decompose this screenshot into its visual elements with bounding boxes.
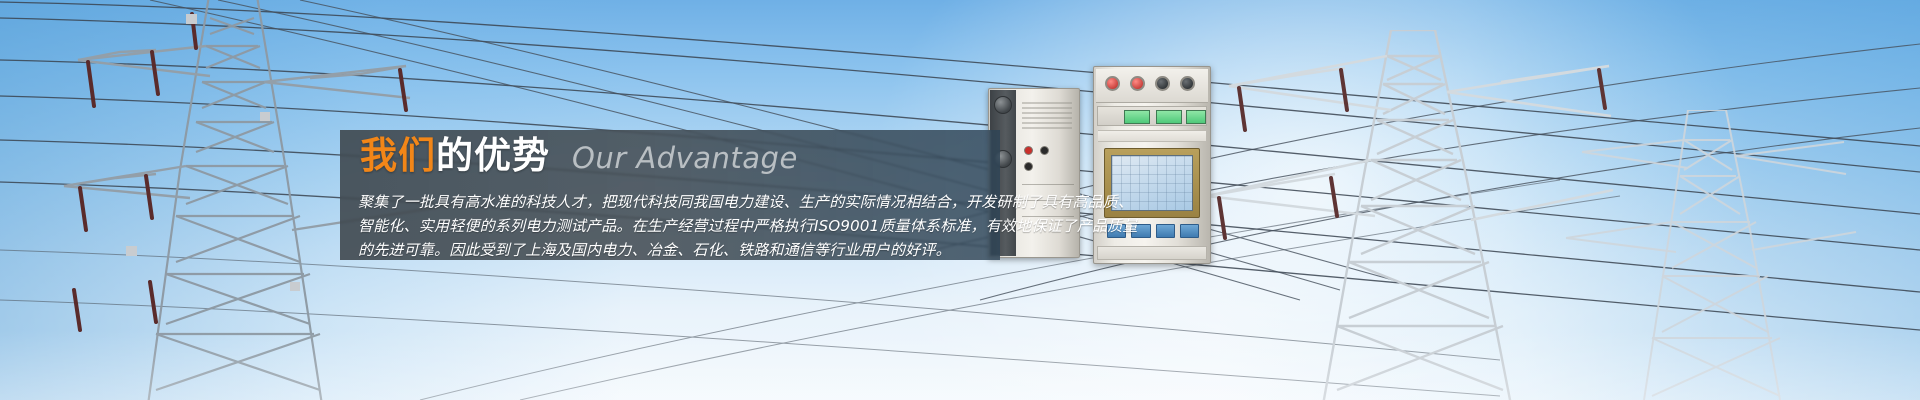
- device-a-vent: [1022, 102, 1072, 132]
- heading-rest: 的优势: [436, 134, 550, 178]
- advantage-content: 我们 的优势 Our Advantage 聚集了一批具有高水准的科技人才，把现代…: [358, 134, 998, 262]
- device-a-port-black-2: [1024, 162, 1033, 171]
- device-b-terminal-red-2: [1130, 76, 1145, 91]
- heading-english-subtitle: Our Advantage: [572, 136, 798, 180]
- device-b-button-4: [1180, 224, 1199, 238]
- device-a-port-red: [1024, 146, 1033, 155]
- description-line-3: 的先进可靠。因此受到了上海及国内电力、冶金、石化、铁路和通信等行业用户的好评。: [358, 238, 998, 262]
- device-a-port-black-1: [1040, 146, 1049, 155]
- device-b-button-3: [1156, 224, 1175, 238]
- device-b-terminal-black-2: [1180, 76, 1195, 91]
- device-b-meter-row: [1097, 106, 1207, 126]
- device-b-footer-label: [1097, 246, 1207, 260]
- device-b-lcd-3: [1186, 110, 1206, 124]
- bottom-haze: [0, 330, 1920, 400]
- advantage-banner: 我们 的优势 Our Advantage 聚集了一批具有高水准的科技人才，把现代…: [0, 0, 1920, 400]
- device-b-lcd-1: [1124, 110, 1150, 124]
- advantage-heading: 我们 的优势 Our Advantage: [358, 134, 998, 182]
- device-b-model-label: [1098, 130, 1206, 142]
- transmission-tower-right: [1195, 30, 1615, 400]
- device-a-knob-upper: [994, 96, 1012, 114]
- device-a-panel-line-1: [1022, 184, 1074, 185]
- heading-highlight: 我们: [360, 134, 436, 178]
- advantage-description: 聚集了一批具有高水准的科技人才，把现代科技同我国电力建设、生产的实际情况相结合，…: [358, 190, 998, 262]
- description-line-1: 聚集了一批具有高水准的科技人才，把现代科技同我国电力建设、生产的实际情况相结合，…: [358, 190, 998, 214]
- transmission-tower-far-right: [1560, 110, 1860, 400]
- device-b-terminal-red-1: [1105, 76, 1120, 91]
- device-b-lcd-2: [1156, 110, 1182, 124]
- description-line-2: 智能化、实用轻便的系列电力测试产品。在生产经营过程中严格执行ISO9001质量体…: [358, 214, 998, 238]
- device-b-terminal-black-1: [1155, 76, 1170, 91]
- sky-right-gradient: [1220, 0, 1920, 400]
